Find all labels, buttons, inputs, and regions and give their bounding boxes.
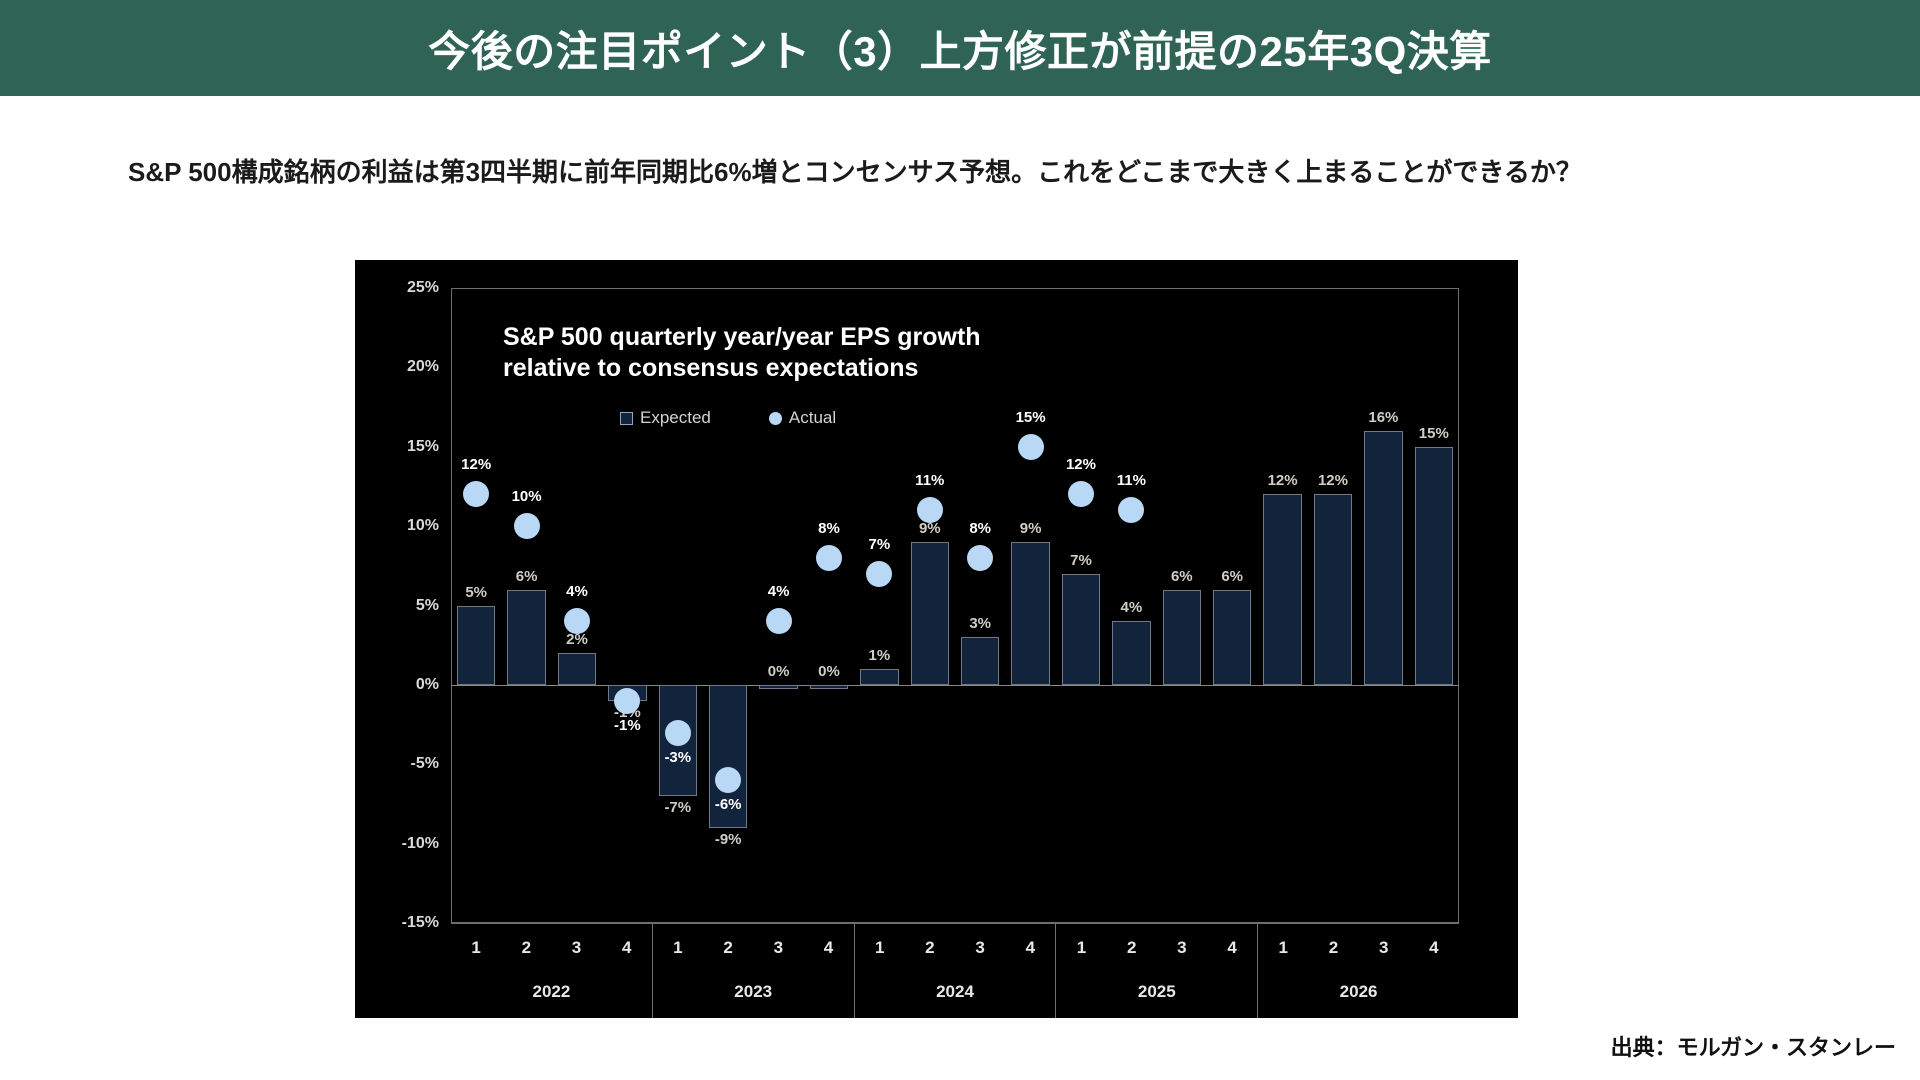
quarter-column: 6%	[1207, 288, 1257, 923]
quarter-tick-label: 3	[955, 938, 1005, 958]
actual-dot	[1068, 481, 1094, 507]
actual-value-label: 11%	[1117, 472, 1146, 489]
actual-dot	[1118, 497, 1144, 523]
expected-value-label: 16%	[1368, 409, 1398, 426]
quarter-column: 6%	[1157, 288, 1207, 923]
expected-value-label: 9%	[1020, 520, 1042, 537]
y-axis-tick-label: -10%	[355, 835, 439, 853]
expected-value-label: 15%	[1419, 425, 1449, 442]
y-axis-tick-label: 25%	[355, 279, 439, 297]
year-tick-label: 2024	[855, 958, 1056, 1002]
actual-dot	[614, 688, 640, 714]
quarter-row: 1234	[1258, 924, 1459, 958]
actual-value-label: 4%	[566, 583, 588, 600]
actual-dot	[967, 545, 993, 571]
expected-bar	[810, 685, 848, 689]
actual-value-label: 8%	[969, 520, 991, 537]
quarter-column: 3%8%	[955, 288, 1005, 923]
year-group: 12342025	[1056, 924, 1258, 1018]
quarter-tick-label: 1	[1258, 938, 1308, 958]
x-axis: 1234202212342023123420241234202512342026	[451, 923, 1459, 1018]
actual-dot	[917, 497, 943, 523]
expected-bar	[1112, 621, 1150, 685]
quarter-column: 15%	[1409, 288, 1459, 923]
actual-value-label: -1%	[614, 717, 641, 734]
year-tick-label: 2025	[1056, 958, 1257, 1002]
actual-dot	[766, 608, 792, 634]
source-note: 出典：モルガン・スタンレー	[1611, 1030, 1896, 1062]
quarter-tick-label: 3	[753, 938, 803, 958]
quarter-tick-label: 2	[905, 938, 955, 958]
actual-dot	[514, 513, 540, 539]
actual-value-label: 11%	[915, 472, 944, 489]
quarter-column: 12%	[1257, 288, 1307, 923]
actual-value-label: 4%	[768, 583, 790, 600]
expected-value-label: 0%	[818, 663, 840, 680]
expected-value-label: 5%	[465, 584, 487, 601]
expected-bar	[759, 685, 797, 689]
actual-value-label: 15%	[1016, 409, 1046, 426]
quarter-column: 6%10%	[501, 288, 551, 923]
series-layer: 5%12%6%10%2%4%-1%-1%-7%-3%-9%-6%0%4%0%8%…	[451, 288, 1459, 923]
expected-bar	[961, 637, 999, 685]
expected-bar	[1364, 431, 1402, 685]
actual-dot	[715, 767, 741, 793]
quarter-column: 4%11%	[1106, 288, 1156, 923]
quarter-tick-label: 2	[1308, 938, 1358, 958]
year-tick-label: 2023	[653, 958, 854, 1002]
expected-value-label: 6%	[1171, 568, 1193, 585]
quarter-column: 16%	[1358, 288, 1408, 923]
expected-bar	[457, 606, 495, 685]
year-group: 12342022	[451, 924, 653, 1018]
actual-dot	[866, 561, 892, 587]
quarter-tick-label: 4	[1005, 938, 1055, 958]
year-group: 12342024	[855, 924, 1057, 1018]
actual-dot	[1018, 434, 1044, 460]
year-group: 12342026	[1258, 924, 1459, 1018]
quarter-column: 9%15%	[1005, 288, 1055, 923]
quarter-tick-label: 1	[653, 938, 703, 958]
actual-value-label: 12%	[461, 456, 491, 473]
expected-bar	[1314, 494, 1352, 685]
quarter-column: 0%8%	[804, 288, 854, 923]
header-band: 今後の注目ポイント（3）上方修正が前提の25年3Q決算	[0, 0, 1920, 96]
expected-value-label: -9%	[715, 831, 742, 848]
quarter-row: 1234	[1056, 924, 1257, 958]
quarter-column: 12%	[1308, 288, 1358, 923]
actual-dot	[816, 545, 842, 571]
expected-bar	[507, 590, 545, 685]
y-axis-tick-label: 15%	[355, 438, 439, 456]
quarter-tick-label: 3	[1157, 938, 1207, 958]
y-axis-tick-label: 20%	[355, 358, 439, 376]
expected-bar	[558, 653, 596, 685]
expected-value-label: 3%	[969, 615, 991, 632]
expected-value-label: 6%	[516, 568, 538, 585]
quarter-tick-label: 4	[1207, 938, 1257, 958]
expected-value-label: 12%	[1268, 472, 1298, 489]
y-axis-tick-label: -5%	[355, 755, 439, 773]
y-axis-tick-label: -15%	[355, 914, 439, 932]
expected-value-label: 7%	[1070, 552, 1092, 569]
year-tick-label: 2026	[1258, 958, 1459, 1002]
quarter-column: -9%-6%	[703, 288, 753, 923]
quarter-tick-label: 4	[803, 938, 853, 958]
quarter-column: 9%11%	[905, 288, 955, 923]
actual-dot	[564, 608, 590, 634]
expected-bar	[911, 542, 949, 685]
quarter-tick-label: 1	[451, 938, 501, 958]
year-group: 12342023	[653, 924, 855, 1018]
quarter-tick-label: 3	[551, 938, 601, 958]
expected-value-label: -7%	[664, 799, 691, 816]
quarter-tick-label: 4	[1409, 938, 1459, 958]
actual-value-label: -6%	[715, 796, 742, 813]
y-axis-tick-label: 10%	[355, 517, 439, 535]
expected-value-label: 0%	[768, 663, 790, 680]
actual-value-label: -3%	[664, 749, 691, 766]
expected-bar	[1263, 494, 1301, 685]
quarter-row: 1234	[653, 924, 854, 958]
expected-value-label: 12%	[1318, 472, 1348, 489]
quarter-row: 1234	[855, 924, 1056, 958]
expected-bar	[1062, 574, 1100, 685]
subtitle-text: S&P 500構成銘柄の利益は第3四半期に前年同期比6%増とコンセンサス予想。こ…	[128, 152, 1848, 189]
expected-value-label: 6%	[1221, 568, 1243, 585]
quarter-column: -1%-1%	[602, 288, 652, 923]
actual-value-label: 12%	[1066, 456, 1096, 473]
expected-bar	[1011, 542, 1049, 685]
quarter-column: 5%12%	[451, 288, 501, 923]
expected-bar	[1163, 590, 1201, 685]
actual-dot	[665, 720, 691, 746]
y-axis-tick-label: 0%	[355, 676, 439, 694]
page-title: 今後の注目ポイント（3）上方修正が前提の25年3Q決算	[428, 18, 1492, 79]
quarter-column: 7%12%	[1056, 288, 1106, 923]
expected-bar	[860, 669, 898, 685]
quarter-tick-label: 4	[602, 938, 652, 958]
quarter-tick-label: 2	[1107, 938, 1157, 958]
quarter-tick-label: 2	[501, 938, 551, 958]
quarter-tick-label: 1	[855, 938, 905, 958]
quarter-tick-label: 3	[1359, 938, 1409, 958]
expected-value-label: 1%	[869, 647, 891, 664]
actual-value-label: 10%	[512, 488, 542, 505]
expected-bar	[1213, 590, 1251, 685]
actual-value-label: 8%	[818, 520, 840, 537]
quarter-column: 1%7%	[854, 288, 904, 923]
actual-dot	[463, 481, 489, 507]
quarter-column: 2%4%	[552, 288, 602, 923]
actual-value-label: 7%	[869, 536, 891, 553]
expected-bar	[1415, 447, 1453, 685]
year-tick-label: 2022	[451, 958, 652, 1002]
quarter-column: -7%-3%	[653, 288, 703, 923]
chart-image: 25%20%15%10%5%0%-5%-10%-15% S&P 500 quar…	[355, 260, 1518, 1018]
expected-value-label: 4%	[1121, 599, 1143, 616]
quarter-tick-label: 1	[1056, 938, 1106, 958]
quarter-row: 1234	[451, 924, 652, 958]
y-axis-tick-label: 5%	[355, 597, 439, 615]
quarter-column: 0%4%	[753, 288, 803, 923]
quarter-tick-label: 2	[703, 938, 753, 958]
